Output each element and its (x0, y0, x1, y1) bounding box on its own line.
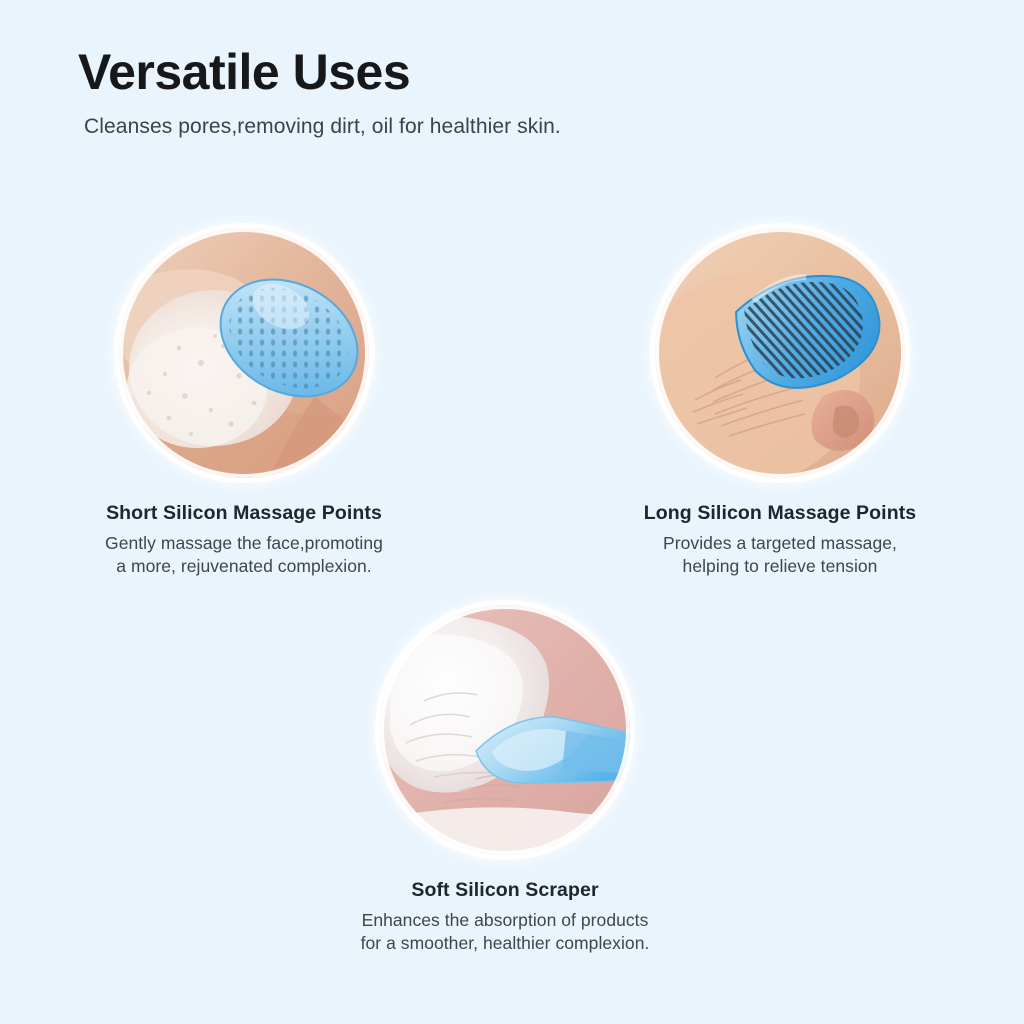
feature-body: Enhances the absorption of products for … (305, 909, 705, 956)
feature-body: Provides a targeted massage, helping to … (580, 532, 980, 579)
feature-body-line-2: for a smoother, healthier complexion. (305, 932, 705, 955)
feature-body-line-2: a more, rejuvenated complexion. (44, 555, 444, 578)
photo-wrap-3 (380, 605, 630, 855)
feature-body-line-1: Gently massage the face,promoting (44, 532, 444, 555)
feature-body-line-2: helping to relieve tension (580, 555, 980, 578)
feature-title: Soft Silicon Scraper (305, 879, 705, 902)
photo-wrap-1 (119, 228, 369, 478)
feature-title: Long Silicon Massage Points (580, 502, 980, 525)
feature-card-long-silicon-massage-points: Long Silicon Massage Points Provides a t… (580, 228, 980, 579)
feature-title: Short Silicon Massage Points (44, 502, 444, 525)
short-silicon-massage-points-photo (119, 228, 369, 478)
photo-wrap-2 (655, 228, 905, 478)
page-title: Versatile Uses (78, 46, 958, 99)
feature-card-short-silicon-massage-points: Short Silicon Massage Points Gently mass… (44, 228, 444, 579)
long-silicon-massage-points-photo (655, 228, 905, 478)
soft-silicon-scraper-photo (380, 605, 630, 855)
header: Versatile Uses Cleanses pores,removing d… (78, 46, 958, 139)
versatile-uses-infographic: Versatile Uses Cleanses pores,removing d… (0, 0, 1024, 1024)
feature-body-line-1: Provides a targeted massage, (580, 532, 980, 555)
feature-body-line-1: Enhances the absorption of products (305, 909, 705, 932)
feature-body: Gently massage the face,promoting a more… (44, 532, 444, 579)
feature-card-soft-silicon-scraper: Soft Silicon Scraper Enhances the absorp… (305, 605, 705, 956)
page-subtitle: Cleanses pores,removing dirt, oil for he… (84, 115, 958, 139)
